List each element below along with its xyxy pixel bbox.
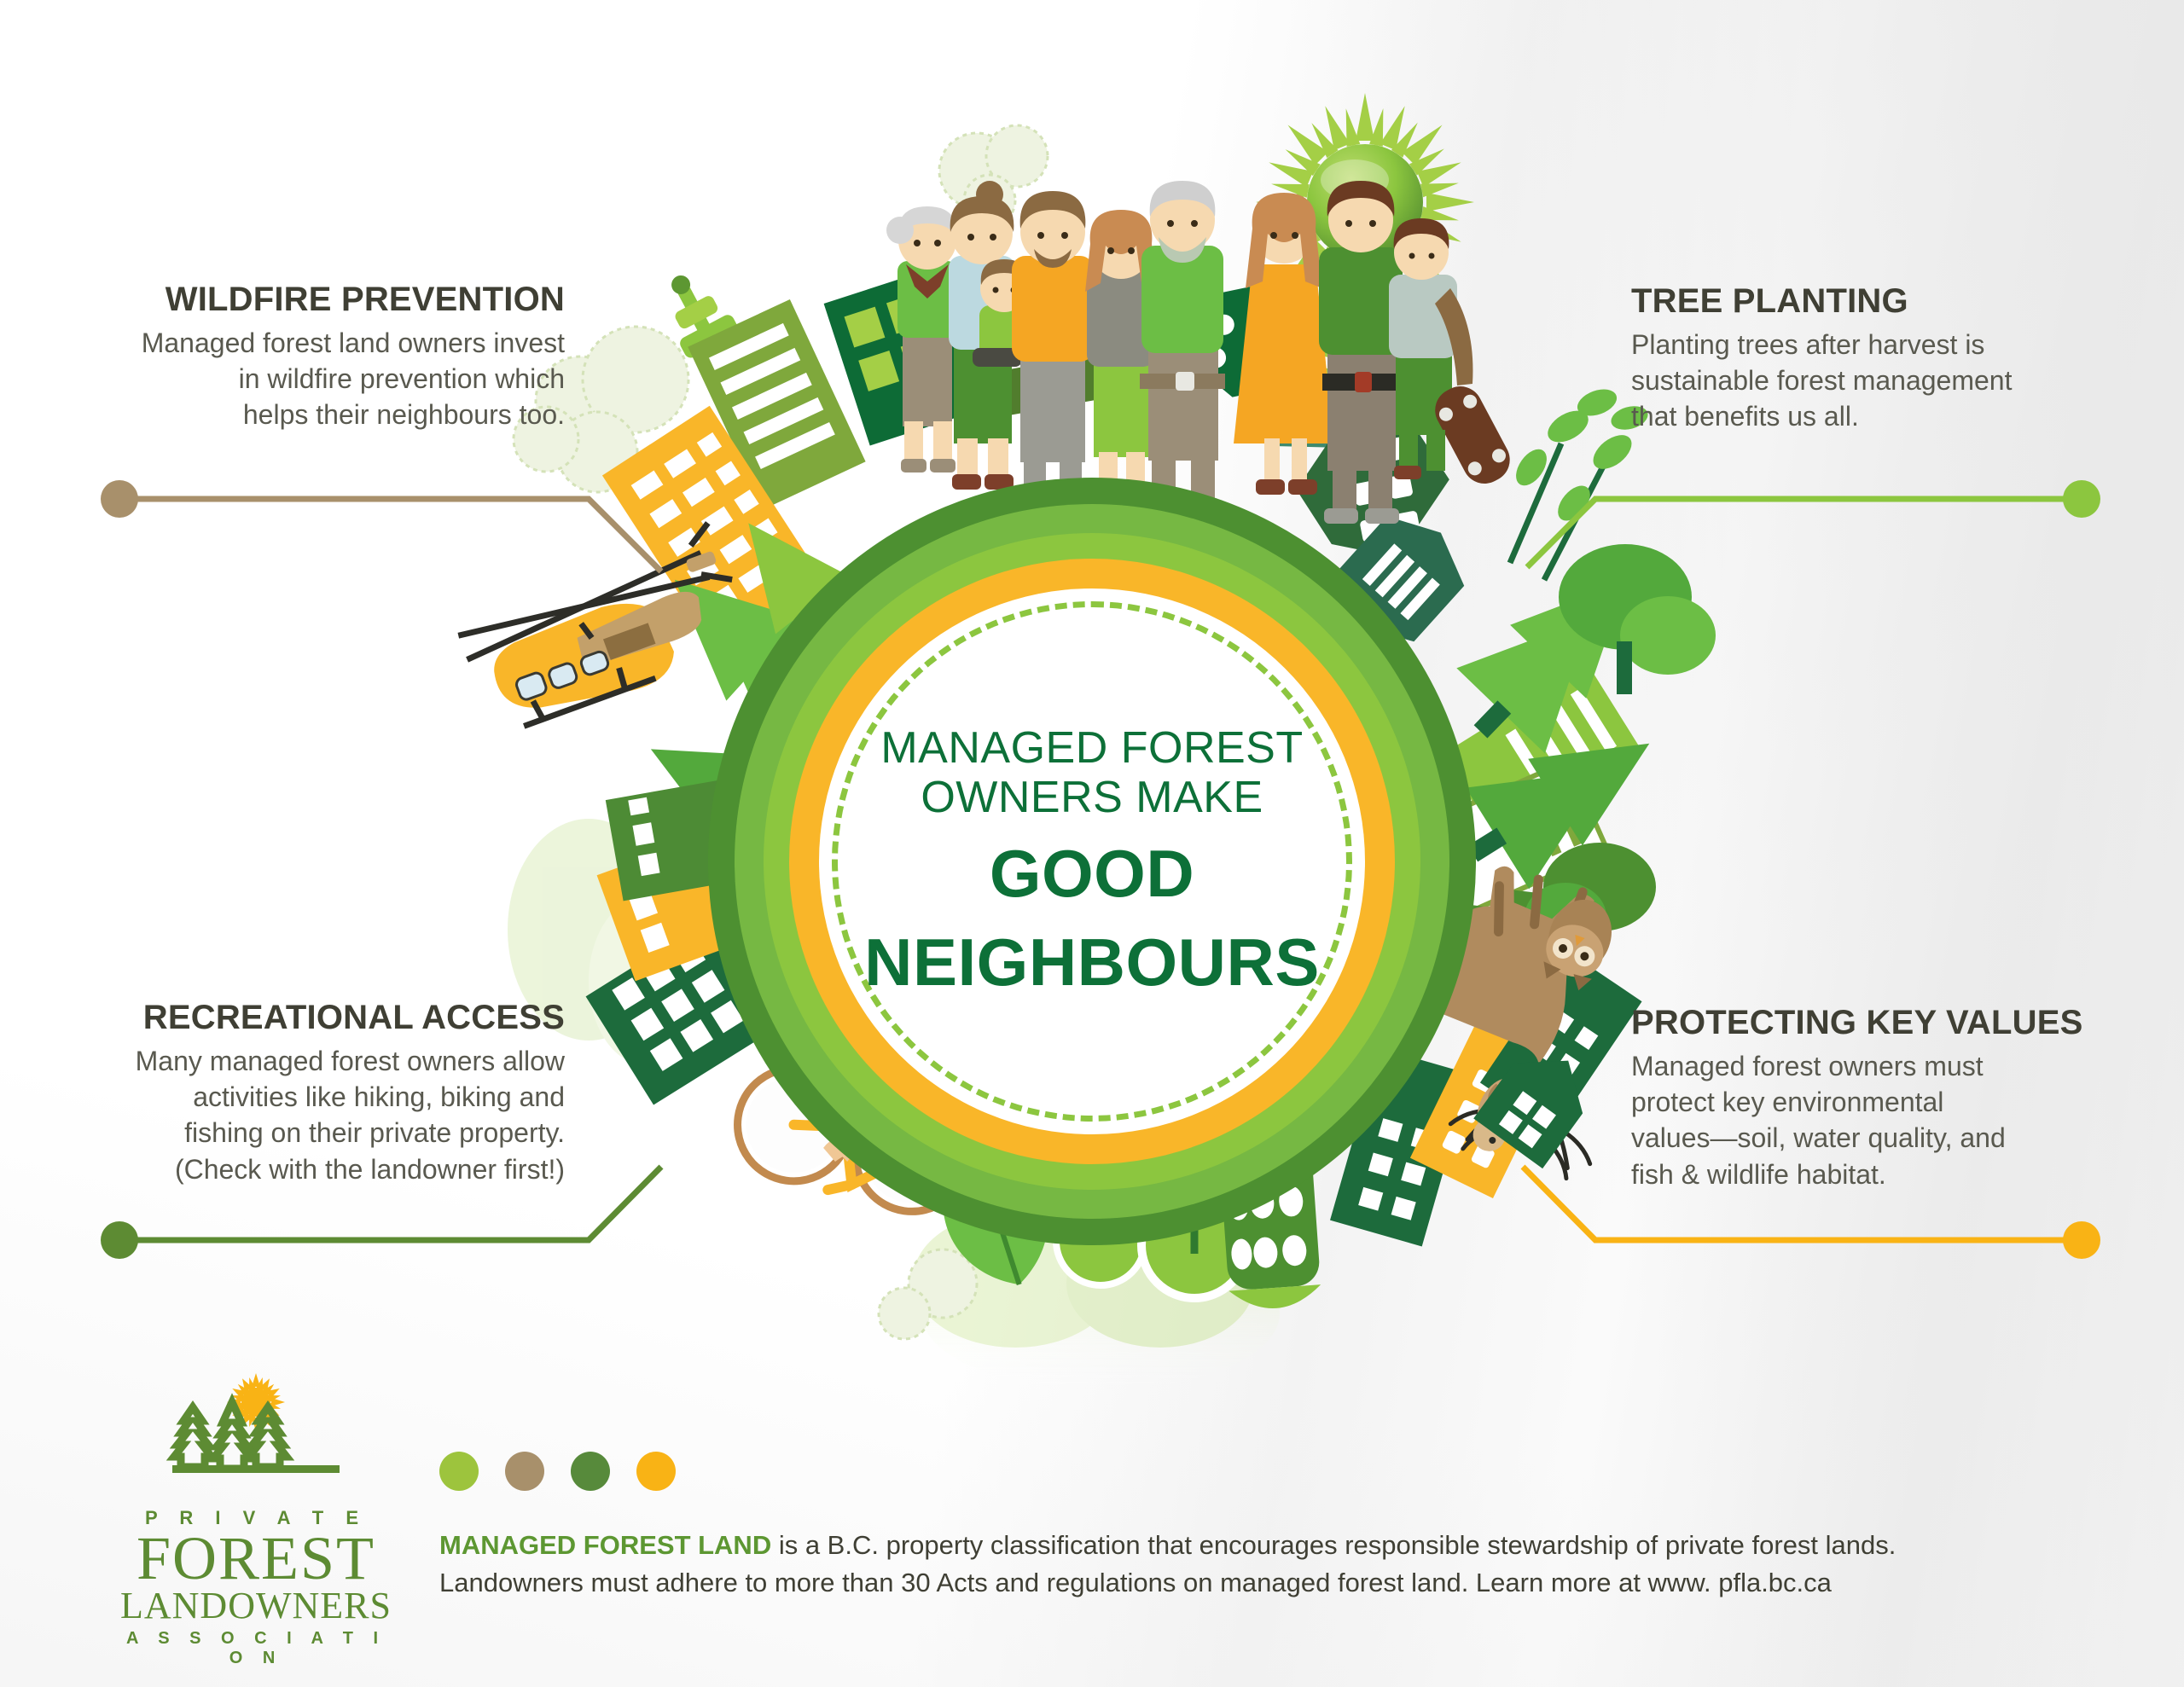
callout-recreational-access: RECREATIONAL ACCESS Many managed forest … bbox=[82, 1000, 565, 1187]
helicopter-icon bbox=[451, 522, 756, 740]
callout-body-line: helps their neighbours too. bbox=[243, 399, 565, 430]
callout-body-line: protect key environmental bbox=[1631, 1087, 1943, 1117]
pfla-logo[interactable]: P R I V A T E FOREST LANDOWNERS A S S O … bbox=[119, 1371, 392, 1627]
footer-highlight: MANAGED FOREST LAND bbox=[439, 1530, 771, 1560]
deciduous-tree-icon bbox=[1525, 544, 1716, 951]
logo-forest-text: FOREST bbox=[119, 1529, 392, 1587]
callout-body-line: activities like hiking, biking and bbox=[193, 1081, 565, 1112]
sun-icon bbox=[1211, 48, 1519, 357]
callout-wildfire-prevention: WILDFIRE PREVENTION Managed forest land … bbox=[82, 281, 565, 433]
center-headline-line-3: GOOD bbox=[836, 838, 1348, 911]
footer-line-1-rest: is a B.C. property classification that e… bbox=[771, 1530, 1896, 1560]
callout-body-line: Many managed forest owners allow bbox=[136, 1046, 565, 1076]
swatch-orange bbox=[636, 1452, 676, 1491]
center-headline-line-2: OWNERS MAKE bbox=[836, 773, 1348, 822]
callout-title: TREE PLANTING bbox=[1631, 283, 2092, 319]
callout-title: PROTECTING KEY VALUES bbox=[1631, 1005, 2126, 1041]
sapling-icon bbox=[1510, 443, 1604, 580]
center-headline-line-1: MANAGED FOREST bbox=[836, 723, 1348, 773]
callout-title: RECREATIONAL ACCESS bbox=[82, 1000, 565, 1035]
center-headline-line-4: NEIGHBOURS bbox=[836, 926, 1348, 1000]
owl-icon bbox=[1534, 890, 1622, 994]
callout-title: WILDFIRE PREVENTION bbox=[82, 281, 565, 317]
callout-body: Managed forest land owners invest in wil… bbox=[82, 325, 565, 433]
callout-body-line: Planting trees after harvest is bbox=[1631, 329, 1984, 360]
callout-body: Planting trees after harvest is sustaina… bbox=[1631, 327, 2092, 435]
callout-body-line: (Check with the landowner first!) bbox=[175, 1154, 565, 1185]
center-headline: MANAGED FOREST OWNERS MAKE GOOD NEIGHBOU… bbox=[836, 723, 1348, 1000]
callout-body-line: values—soil, water quality, and bbox=[1631, 1122, 2006, 1153]
callout-body-line: that benefits us all. bbox=[1631, 401, 1859, 432]
people-group-icon bbox=[886, 181, 1518, 524]
callout-body: Managed forest owners must protect key e… bbox=[1631, 1048, 2126, 1192]
callout-body-line: in wildfire prevention which bbox=[239, 363, 565, 394]
color-swatch-row bbox=[439, 1452, 676, 1491]
logo-landowners-text: LANDOWNERS bbox=[119, 1587, 392, 1625]
footer-description: MANAGED FOREST LAND is a B.C. property c… bbox=[439, 1527, 2060, 1602]
logo-mountains-sun-icon bbox=[119, 1371, 392, 1499]
callout-body-line: fishing on their private property. bbox=[184, 1117, 565, 1148]
swatch-tan-brown bbox=[505, 1452, 544, 1491]
logo-trees-icon bbox=[174, 1402, 287, 1469]
connector-tree-planting bbox=[1527, 480, 2100, 567]
callout-tree-planting: TREE PLANTING Planting trees after harve… bbox=[1631, 283, 2092, 435]
footer-line-2: Landowners must adhere to more than 30 A… bbox=[439, 1568, 1832, 1597]
infographic-stage: MANAGED FOREST OWNERS MAKE GOOD NEIGHBOU… bbox=[0, 0, 2184, 1687]
leaf-icon bbox=[1510, 385, 1651, 527]
callout-body: Many managed forest owners allow activit… bbox=[82, 1043, 565, 1187]
callout-protecting-key-values: PROTECTING KEY VALUES Managed forest own… bbox=[1631, 1005, 2126, 1192]
house-icon bbox=[1473, 1035, 1602, 1168]
swatch-dark-green bbox=[571, 1452, 610, 1491]
bird-icon bbox=[1462, 1070, 1540, 1162]
swatch-light-green bbox=[439, 1452, 479, 1491]
connector-wildfire-prevention bbox=[101, 480, 661, 571]
callout-body-line: Managed forest land owners invest bbox=[142, 328, 565, 358]
callout-body-line: Managed forest owners must bbox=[1631, 1051, 1984, 1081]
callout-body-line: sustainable forest management bbox=[1631, 365, 2012, 396]
callout-body-line: fish & wildlife habitat. bbox=[1631, 1159, 1886, 1190]
logo-association-text: A S S O C I A T I O N bbox=[119, 1629, 392, 1668]
